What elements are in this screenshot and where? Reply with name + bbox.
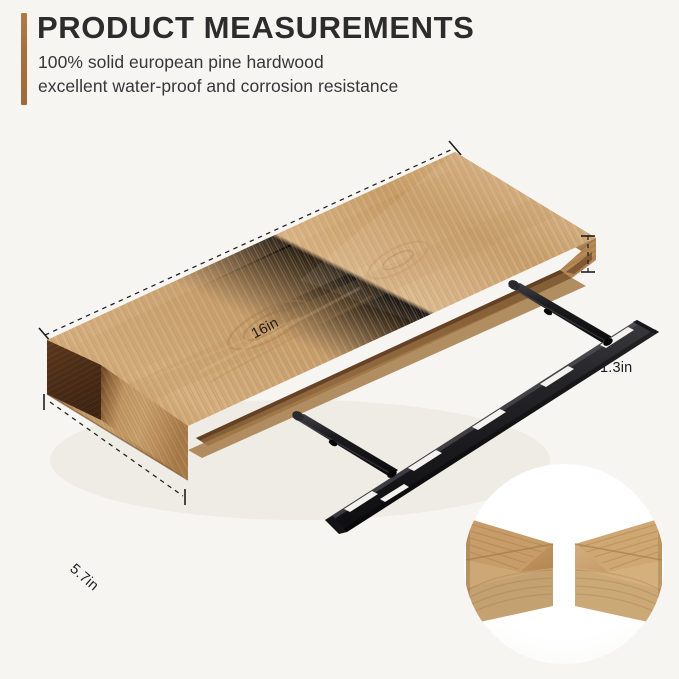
subtitle: 100% solid european pine hardwood excell… [38, 50, 638, 98]
page-title: PRODUCT MEASUREMENTS [37, 9, 597, 47]
product-svg [0, 120, 679, 679]
accent-bar [21, 13, 27, 105]
product-illustration: 16in 5.7in 1.3in [0, 120, 679, 679]
detail-inset [464, 464, 664, 664]
subtitle-line-1: 100% solid european pine hardwood [38, 50, 638, 74]
dimension-label-thickness: 1.3in [600, 360, 632, 376]
header: PRODUCT MEASUREMENTS 100% solid european… [0, 0, 679, 120]
subtitle-line-2: excellent water-proof and corrosion resi… [38, 74, 638, 98]
infographic-canvas: PRODUCT MEASUREMENTS 100% solid european… [0, 0, 679, 679]
